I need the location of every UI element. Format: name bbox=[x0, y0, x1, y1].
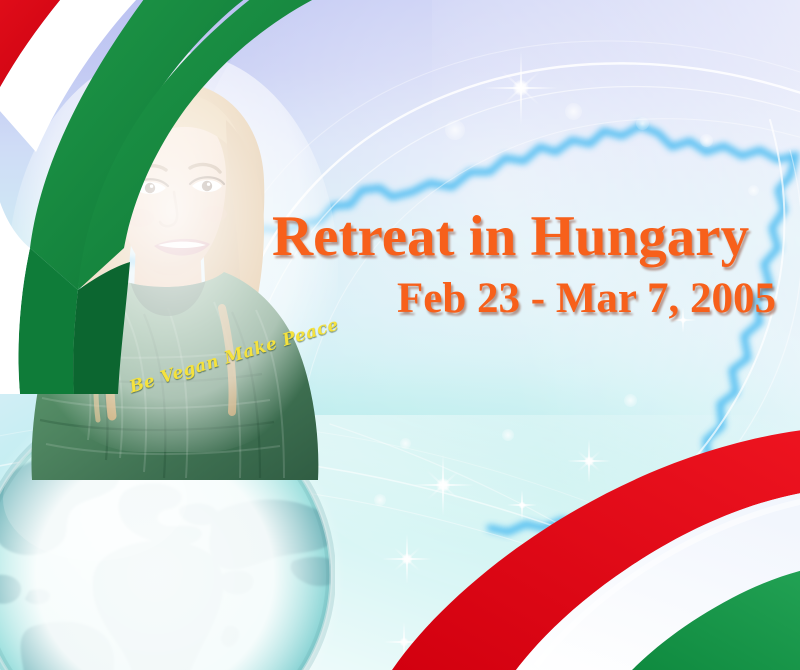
headline-block: Retreat in Hungary Feb 23 - Mar 7, 2005 bbox=[272, 206, 782, 324]
page-title: Retreat in Hungary bbox=[272, 206, 782, 268]
hungarian-flag-band bbox=[280, 370, 800, 670]
poster-canvas: Be Vegan Make Peace bbox=[0, 0, 800, 670]
date-range: Feb 23 - Mar 7, 2005 bbox=[272, 274, 782, 324]
